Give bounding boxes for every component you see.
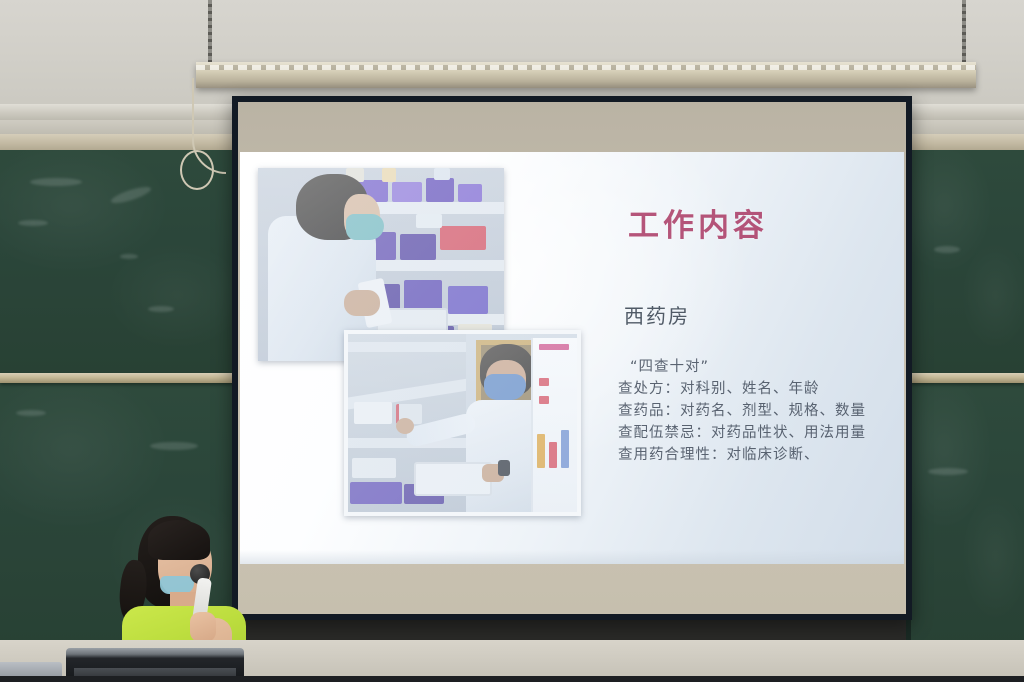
chalkboard-right-upper xyxy=(910,150,1024,374)
slide-body-line: 查处方：对科别、姓名、年龄 xyxy=(618,378,866,400)
slide-body-line: 查药品：对药名、剂型、规格、数量 xyxy=(618,400,866,422)
presenter-hand xyxy=(190,612,216,642)
slide-body-line: “四查十对” xyxy=(618,356,866,378)
slide-body-line: 查配伍禁忌：对药品性状、用法用量 xyxy=(618,422,866,444)
back-wall xyxy=(0,0,1024,110)
pull-cord-loop xyxy=(180,150,214,190)
chain-icon xyxy=(962,0,966,62)
classroom-scene: 工作内容 西药房 “四查十对” 查处方：对科别、姓名、年龄 查药品：对药名、剂型… xyxy=(0,0,1024,682)
chalkboard-right-lower xyxy=(910,382,1024,650)
projected-slide: 工作内容 西药房 “四查十对” 查处方：对科别、姓名、年龄 查药品：对药名、剂型… xyxy=(240,152,904,564)
chalk-ledge-right xyxy=(910,373,1024,383)
chalk-ledge-left xyxy=(0,373,236,383)
slide-subheading: 西药房 xyxy=(624,300,690,329)
slide-title: 工作内容 xyxy=(628,200,768,245)
presenter-fringe xyxy=(148,520,210,560)
slide-body-text: “四查十对” 查处方：对科别、姓名、年龄 查药品：对药名、剂型、规格、数量 查配… xyxy=(618,356,866,466)
projector-screen-roller xyxy=(196,62,976,88)
slide-body-line: 查用药合理性：对临床诊断、 xyxy=(618,444,866,466)
pharmacist-with-basket-photo xyxy=(344,330,581,516)
desk-front-edge xyxy=(0,676,1024,682)
projection-bottom-falloff xyxy=(240,550,904,564)
